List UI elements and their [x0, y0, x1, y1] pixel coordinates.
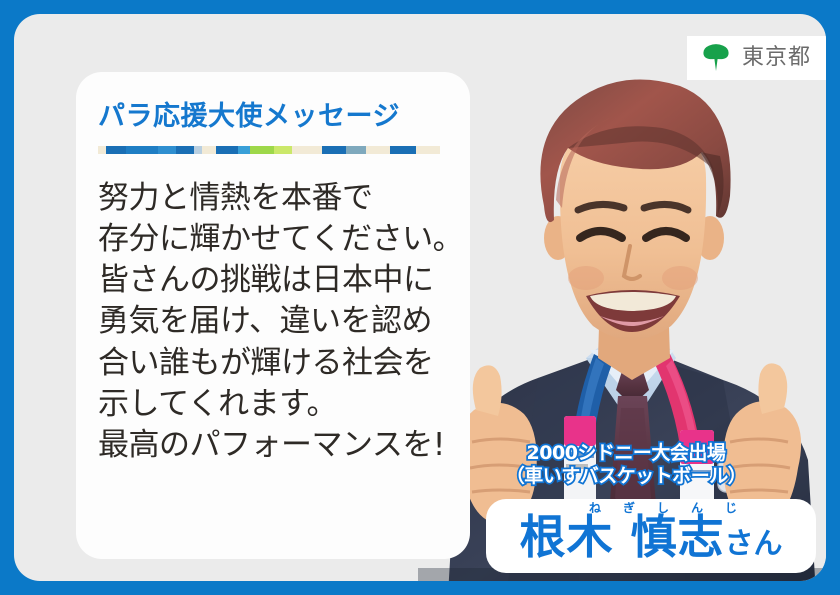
tokyo-metropolitan-logo: 東京都 [687, 36, 826, 80]
message-line: 皆さんの挑戦は日本中に [98, 260, 470, 301]
message-body: 努力と情熱を本番で 存分に輝かせてください。 皆さんの挑戦は日本中に 勇気を届け… [98, 178, 470, 467]
message-line: 努力と情熱を本番で [98, 178, 470, 219]
message-line: 最高のパフォーマンスを! [98, 425, 470, 466]
tokyo-logo-text: 東京都 [742, 47, 811, 69]
message-line: 勇気を届け、違いを認め [98, 301, 470, 342]
athlete-name-suffix: さん [725, 529, 783, 558]
card-title: パラ応援大使メッセージ [98, 102, 470, 132]
athlete-caption: 2000シドニー大会出場 （車いすバスケットボール） [476, 442, 776, 488]
message-line: 合い誰もが輝ける社会を [98, 343, 470, 384]
name-row: 根木 慎志 さん [519, 514, 782, 560]
caption-line-games: 2000シドニー大会出場 [476, 442, 776, 465]
poster-frame: パラ応援大使メッセージ 努力と情熱を本番で 存分に輝かせてください。 皆さんの挑… [0, 0, 840, 595]
caption-line-sport: （車いすバスケットボール） [476, 465, 776, 488]
decorative-divider [98, 146, 440, 154]
athlete-name-plate: ねぎしんじ 根木 慎志 さん [486, 499, 816, 573]
poster-panel: パラ応援大使メッセージ 努力と情熱を本番で 存分に輝かせてください。 皆さんの挑… [14, 14, 826, 581]
athlete-name: 根木 慎志 [519, 514, 724, 560]
ginkgo-leaf-icon [701, 43, 731, 73]
message-line: 存分に輝かせてください。 [98, 219, 470, 260]
message-line: 示してくれます。 [98, 384, 470, 425]
message-card: パラ応援大使メッセージ 努力と情熱を本番で 存分に輝かせてください。 皆さんの挑… [76, 72, 470, 559]
